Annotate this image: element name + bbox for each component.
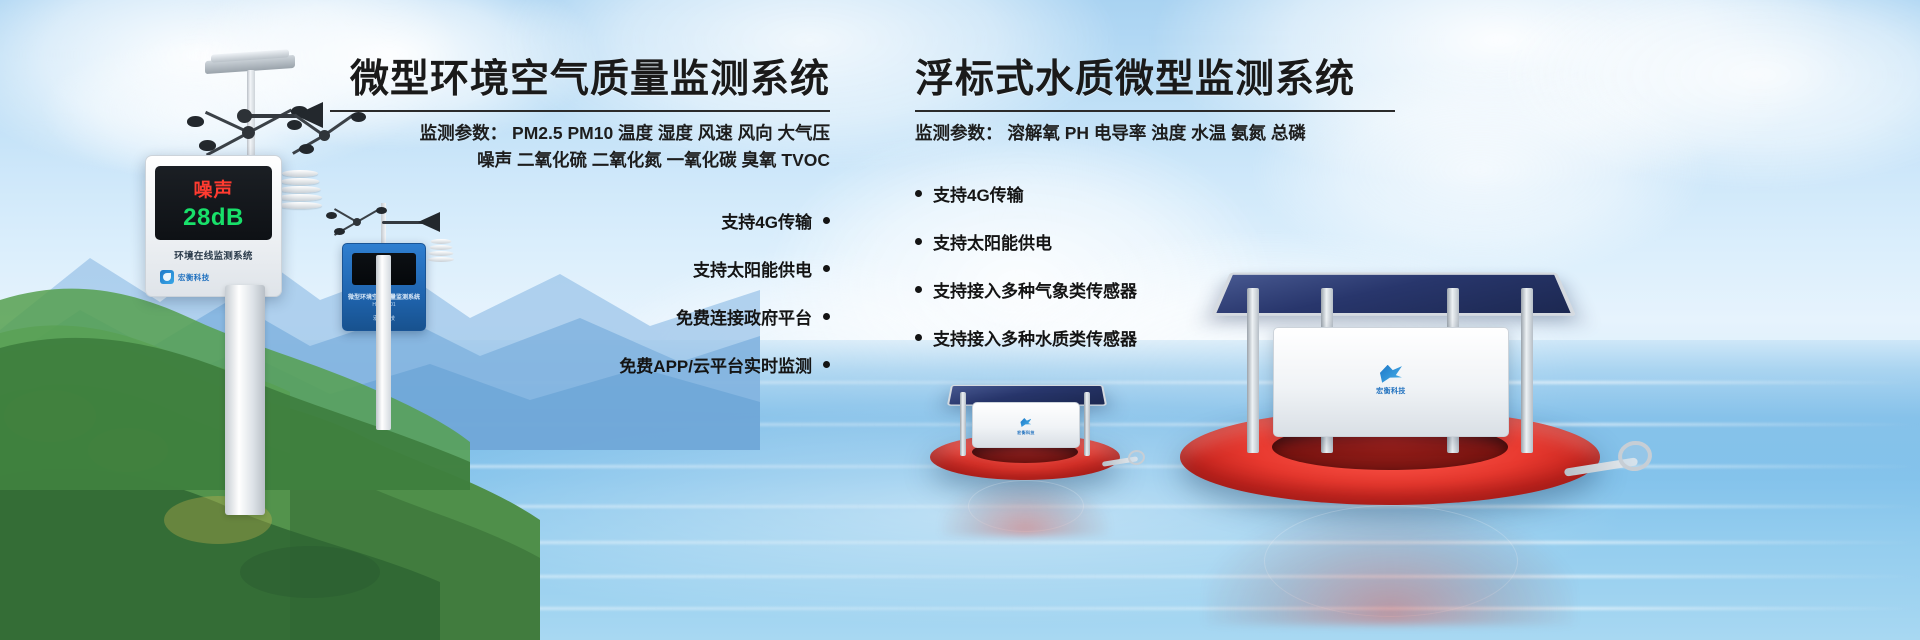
feature-label: 支持太阳能供电 <box>693 256 812 281</box>
anemometer-cup <box>287 120 302 130</box>
bullet-dot-icon <box>915 334 922 341</box>
anemometer-hub <box>319 130 330 141</box>
buoy-instrument-box: 宏衡科技 <box>972 402 1080 448</box>
radiation-shield-icon <box>278 170 322 216</box>
brand-label: 宏衡科技 <box>178 272 210 283</box>
anemometer-cup <box>199 140 216 151</box>
frame-post <box>1084 392 1090 456</box>
air-monitoring-station: 噪声 28dB 环境在线监测系统 宏衡科技 <box>95 30 345 500</box>
list-item: 免费APP/云平台实时监测 <box>330 352 830 377</box>
bullet-dot-icon <box>823 265 830 272</box>
air-quality-params-line-1: 监测参数： PM2.5 PM10 温度 湿度 风速 风向 大气压 <box>330 120 830 147</box>
list-item: 支持4G传输 <box>330 208 830 233</box>
company-logo-icon <box>1020 418 1031 427</box>
water-quality-panel: 浮标式水质微型监测系统 监测参数： 溶解氧 PH 电导率 浊度 水温 氨氮 总磷… <box>915 58 1395 373</box>
bullet-dot-icon <box>915 238 922 245</box>
buoy-frame: 宏衡科技 <box>960 392 1089 456</box>
feature-label: 免费APP/云平台实时监测 <box>619 352 812 377</box>
feature-label: 免费连接政府平台 <box>676 304 812 329</box>
buoy-brand: 宏衡科技 <box>973 418 1079 436</box>
feature-label: 支持4G传输 <box>721 208 812 233</box>
list-item: 支持接入多种水质类传感器 <box>915 325 1395 350</box>
feature-label: 支持接入多种水质类传感器 <box>933 325 1137 350</box>
environmental-monitoring-banner: 微型环境空气质量监测系统 监测参数： PM2.5 PM10 温度 湿度 风速 风… <box>0 0 1920 640</box>
water-quality-feature-list: 支持4G传输 支持太阳能供电 支持接入多种气象类传感器 支持接入多种水质类传感器 <box>915 181 1395 350</box>
brand-label: 宏衡科技 <box>1017 430 1035 436</box>
frame-post <box>960 392 966 456</box>
list-item: 支持太阳能供电 <box>330 256 830 281</box>
brand-label: 宏衡科技 <box>1376 386 1406 396</box>
list-item: 支持太阳能供电 <box>915 229 1395 254</box>
feature-label: 支持4G传输 <box>933 181 1024 206</box>
bullet-dot-icon <box>915 190 922 197</box>
station-brand: 宏衡科技 <box>160 268 267 286</box>
air-quality-panel: 微型环境空气质量监测系统 监测参数： PM2.5 PM10 温度 湿度 风速 风… <box>330 58 830 400</box>
noise-screen: 噪声 28dB <box>155 166 272 240</box>
station-caption: 环境在线监测系统 <box>146 248 281 262</box>
station-pole <box>225 285 265 515</box>
list-item: 免费连接政府平台 <box>330 304 830 329</box>
noise-value: 28dB <box>183 204 244 232</box>
company-logo-icon <box>160 270 174 284</box>
feature-label: 支持太阳能供电 <box>933 229 1052 254</box>
bullet-dot-icon <box>823 313 830 320</box>
water-quality-params-line-1: 监测参数： 溶解氧 PH 电导率 浊度 水温 氨氮 总磷 <box>915 120 1395 147</box>
bullet-dot-icon <box>823 217 830 224</box>
air-quality-title: 微型环境空气质量监测系统 <box>330 58 830 103</box>
noise-display-unit: 噪声 28dB 环境在线监测系统 宏衡科技 <box>145 155 282 297</box>
title-divider <box>330 110 830 112</box>
feature-label: 支持接入多种气象类传感器 <box>933 277 1137 302</box>
anemometer-cup <box>299 144 314 154</box>
noise-label: 噪声 <box>193 175 233 202</box>
water-quality-title: 浮标式水质微型监测系统 <box>915 58 1395 103</box>
anemometer-cup <box>187 116 204 127</box>
bullet-dot-icon <box>915 286 922 293</box>
list-item: 支持接入多种气象类传感器 <box>915 277 1395 302</box>
frame-post <box>1521 288 1533 453</box>
title-divider <box>915 110 1395 112</box>
wind-vane-nose <box>237 109 252 123</box>
bullet-dot-icon <box>823 361 830 368</box>
air-quality-feature-list: 支持4G传输 支持太阳能供电 免费连接政府平台 免费APP/云平台实时监测 <box>330 208 830 377</box>
air-quality-params-line-2: 噪声 二氧化硫 二氧化氮 一氧化碳 臭氧 TVOC <box>330 147 830 174</box>
list-item: 支持4G传输 <box>915 181 1395 206</box>
